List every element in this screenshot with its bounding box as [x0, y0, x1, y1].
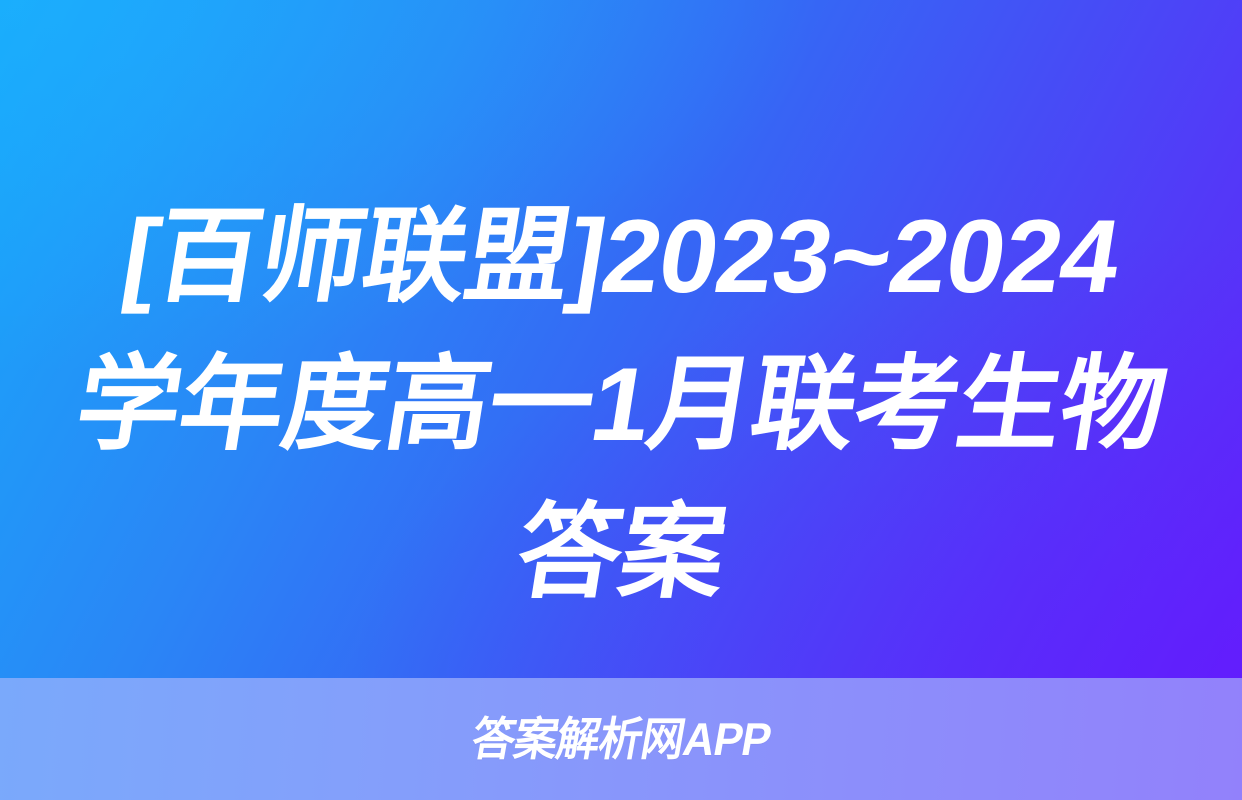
footer-band: 答案解析网APP — [0, 678, 1242, 800]
title-line-3: 答案 — [34, 479, 1207, 627]
poster-title: [百师联盟]2023~2024 学年度高一1月联考生物 答案 — [0, 183, 1242, 627]
hero-gradient-background: [百师联盟]2023~2024 学年度高一1月联考生物 答案 — [0, 0, 1242, 678]
app-watermark-label: 答案解析网APP — [468, 716, 774, 762]
title-line-1: [百师联盟]2023~2024 — [34, 183, 1207, 331]
title-line-2: 学年度高一1月联考生物 — [34, 331, 1207, 479]
answer-poster-card: [百师联盟]2023~2024 学年度高一1月联考生物 答案 答案解析网APP — [0, 0, 1242, 800]
